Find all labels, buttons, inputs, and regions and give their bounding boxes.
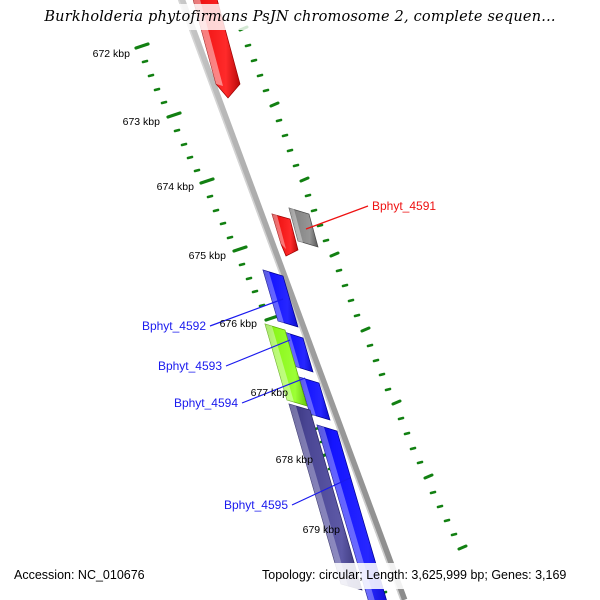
tick-label-679: 679 kbp xyxy=(303,524,340,536)
tick-label-672: 672 kbp xyxy=(93,48,130,60)
genome-map-canvas[interactable] xyxy=(0,0,600,600)
tick-label-673: 673 kbp xyxy=(123,116,160,128)
tick-label-675: 675 kbp xyxy=(189,250,226,262)
tick-label-676: 676 kbp xyxy=(220,318,257,330)
gene-label-bphyt-4594[interactable]: Bphyt_4594 xyxy=(174,396,238,410)
tick-label-674: 674 kbp xyxy=(157,181,194,193)
tick-label-677: 677 kbp xyxy=(251,387,288,399)
gene-label-bphyt-4592[interactable]: Bphyt_4592 xyxy=(142,319,206,333)
gene-label-bphyt-4593[interactable]: Bphyt_4593 xyxy=(158,359,222,373)
genome-viewer[interactable]: 672 kbp 673 kbp 674 kbp 675 kbp 676 kbp … xyxy=(0,0,600,600)
tick-label-678: 678 kbp xyxy=(276,454,313,466)
gene-label-bphyt-4591[interactable]: Bphyt_4591 xyxy=(372,199,436,213)
gene-label-bphyt-4595[interactable]: Bphyt_4595 xyxy=(224,498,288,512)
